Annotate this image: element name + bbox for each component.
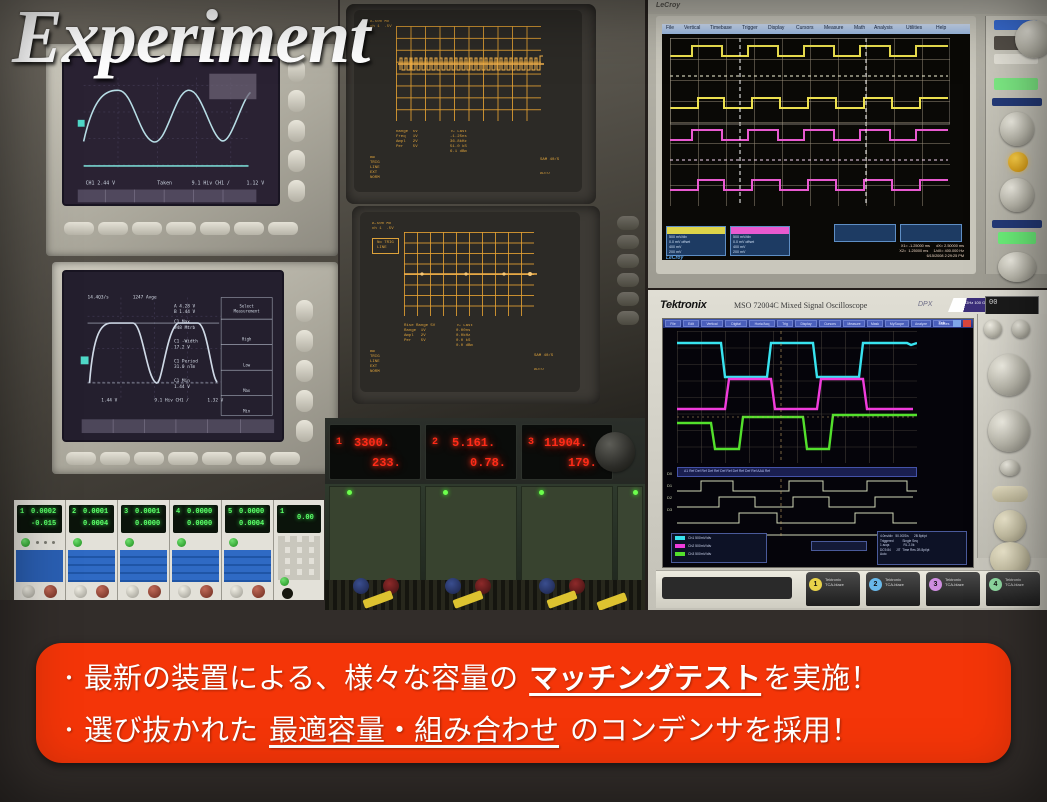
amber-screen-lower: A-500 MO ch 1 .5V No TRIG LINE Rise Rang… [360,212,580,392]
caption-line-2-pre: 選び抜かれた [84,705,258,757]
caption-line-1-post: を実施！ [763,653,879,705]
tek-menu-edit[interactable]: Edit [683,320,699,327]
tek-menu-cursors[interactable]: Cursors [819,320,841,327]
tektronix-status-panel: 4.0ns/div 50.0GS/s 2B 8pt/pt Triggered S… [877,531,967,565]
caption-line-1: ・ 最新の装置による、様々な容量の マッチングテスト を実施！ [54,653,993,705]
lecroy-menu-math[interactable]: Math [854,25,865,31]
lecroy-menu-file[interactable]: File [666,25,674,31]
photo-power-supplies: 1 0.0002 -0.015 2 0.0001 0.0004 [14,500,324,600]
lecroy-menu-help[interactable]: Help [936,25,946,31]
led-1-secondary: 233. [372,456,401,470]
amber-header-upper: A-500 MO ch 1 .5V [370,20,392,30]
svg-text:Min: Min [243,408,250,413]
tek-knob-horizontal-scale[interactable] [988,410,1030,452]
lecroy-amber-lamp[interactable] [1008,152,1028,172]
svg-text:Taken: Taken [157,181,172,187]
tek-menu-vertical[interactable]: Vertical [701,320,723,327]
psu-3-channel: 3 [124,508,128,516]
psu-6-keypad[interactable] [278,536,320,580]
lecroy-waveforms: 1 [670,38,950,206]
led-2-secondary: 0.78. [470,456,506,470]
probe-2-number: 2 [869,578,882,591]
psu-1-output-button[interactable] [21,538,30,547]
photo-amber-monitors: A-500 MO ch 1 .5V Range 5V Freq 1V Ampl … [340,0,645,420]
photo-collage: CH1 2.44 VTaken 9.1 Hiv CH1 /1.12 V [0,0,1047,610]
caption-line-2-emphasis: 最適容量・組み合わせ [267,705,561,757]
led-1-channel: 1 [336,437,342,448]
caption-line-2: ・ 選び抜かれた 最適容量・組み合わせ のコンデンサを採用！ [54,705,993,757]
lecroy-menu-vertical[interactable]: Vertical [684,25,700,31]
photo-lecroy-scope: LeCroy File Vertical Timebase Trigger Di… [648,0,1047,288]
scope-lower-screen: A 4.28 VB 1.44 V C1 Max948 Mtrb C1 -Widt… [62,270,284,442]
amber-corner2-lower: AUTO [534,368,544,373]
front-panel-3 [521,486,613,582]
psu-2-channel: 2 [72,508,76,516]
svg-text:9.1 Hiv CH1 /: 9.1 Hiv CH1 / [154,398,189,404]
svg-text:14.4Q3/s: 14.4Q3/s [88,295,110,301]
led-meter-1: 1 3300. 233. [329,424,421,480]
instrument-front-panels [325,484,645,610]
psu-5-knob-left[interactable] [230,585,243,598]
psu-unit-6: 1 0.00 [274,500,324,600]
front-panel-1 [329,486,421,582]
psu-1-knob-left[interactable] [22,585,35,598]
amber-corner2-upper: AUTO [540,172,550,177]
psu-unit-3: 3 0.0001 0.0000 [118,500,170,600]
amber-corner-upper: SAM 40/S [540,158,559,163]
slide-root: CH1 2.44 VTaken 9.1 Hiv CH1 /1.12 V [0,0,1047,802]
psu-1-display: 1 0.0002 -0.015 [17,505,62,533]
svg-text:High: High [242,337,251,342]
psu-4-output-button[interactable] [177,538,186,547]
svg-text:C1 -Width: C1 -Width [174,339,198,345]
tek-legend-ch3-swatch [675,552,685,556]
psu-unit-4: 4 0.0000 0.0000 [170,500,222,600]
led-2-primary: 5.161. [452,436,495,450]
tektronix-analog-waveforms: 1 2 3 [677,331,917,463]
caption-bullet-1: ・ [54,653,84,705]
psu-1-voltage: 0.0002 [31,508,56,516]
front-panel-4 [617,486,643,582]
tek-legend-ch2-swatch [675,544,685,548]
tektronix-menubar[interactable]: File Edit Vertical Digital Horiz/Acq Tri… [663,319,973,328]
tek-menu-myscope[interactable]: MyScope [885,320,909,327]
lecroy-c1-badge: 500 mV/div0.0 mV offset400 mV200 mV [666,226,726,256]
tektronix-front-slot [662,577,792,599]
amber-corner-lower: SAM 40/S [534,354,553,359]
tek-menu-mask[interactable]: Mask [867,320,883,327]
lecroy-menu-display[interactable]: Display [768,25,784,31]
tek-legend-ch1: Ch1 500mV/div [688,536,711,540]
lecroy-menu-cursors[interactable]: Cursors [796,25,814,31]
probe-1-number: 1 [809,578,822,591]
probe-2-label: Tektronix TCA-blaze [885,577,904,587]
tektronix-timebase-badge [811,541,867,551]
probe-3-label: Tektronix TCA-blaze [945,577,964,587]
banana-jack-neg-3[interactable] [539,578,555,594]
lecroy-knob-upper[interactable] [1000,112,1034,146]
psu-3-voltage: 0.0001 [135,508,160,516]
psu-4-current: 0.0000 [187,520,212,528]
lecroy-knob-lower[interactable] [1000,178,1034,212]
psu-5-knob-right[interactable] [252,585,265,598]
svg-text:1.12 V: 1.12 V [247,181,265,187]
psu-2-panel [68,550,115,582]
psu-5-channel: 5 [228,508,232,516]
led-3-secondary: 179. [568,456,597,470]
tektronix-probe-3[interactable]: 3 Tektronix TCA-blaze [926,572,980,606]
svg-text:1.44 V: 1.44 V [174,384,190,390]
psu-2-display: 2 0.0001 0.0004 [69,505,114,533]
tek-knob-position[interactable] [994,510,1026,542]
photo-tektronix-scope: Tektronix MSO 72004C Mixed Signal Oscill… [648,290,1047,610]
lecroy-timebase-badge [834,224,896,242]
lecroy-section-label-2 [992,220,1042,228]
lecroy-menu-trigger[interactable]: Trigger [742,25,758,31]
svg-text:A 4.28 V: A 4.28 V [174,303,196,309]
page-title: Experiment [12,0,369,81]
caption-bullet-2: ・ [54,705,84,757]
svg-text:C1 Min: C1 Min [174,378,190,384]
amber-header-lower: A-500 MO ch 1 .5V [372,222,394,232]
tek-menu-horizacq[interactable]: Horiz/Acq [749,320,775,327]
tek-button-zoom[interactable] [1000,460,1020,476]
svg-text:CH1 2.44 V: CH1 2.44 V [86,181,115,187]
psu-4-display: 4 0.0000 0.0000 [173,505,218,533]
psu-unit-5: 5 0.0000 0.0004 [222,500,274,600]
probe-1-label: Tektronix TCA-blaze [825,577,844,587]
lecroy-knob-bottom[interactable] [998,252,1036,282]
psu-6-output-button[interactable] [280,577,289,586]
tek-d1-label: D1 [667,483,672,488]
probe-4-label: Tektronix TCA-blaze [1005,577,1024,587]
tek-menu-analyze[interactable]: Analyze [911,320,931,327]
psu-4-voltage: 0.0000 [187,508,212,516]
psu-5-panel [224,550,271,582]
psu-2-output-button[interactable] [73,538,82,547]
tektronix-digital-labels: D0 D1 D2 D3 [667,471,672,512]
lecroy-section-label-1 [992,98,1042,106]
scope-lower-softkeys[interactable] [66,452,300,465]
tek-d3-label: D3 [667,507,672,512]
scope-upper-sidekeys[interactable] [288,60,305,202]
amber-readout-lower: Rise Range 5V Range 1V Ampl 2V Per 5V [404,324,435,344]
amber-readout-upper: Range 5V Freq 1V Ampl 2V Per 5V [396,130,418,150]
tek-legend-ch3: Ch3 500mV/div [688,552,711,556]
tektronix-probe-2[interactable]: 2 Tektronix TCA-blaze [866,572,920,606]
psu-1-knob-right[interactable] [44,585,57,598]
amber-box-lower: No TRIG LINE [372,238,399,254]
amber-trace-lower [404,232,539,316]
psu-5-output-button[interactable] [229,538,238,547]
psu-4-knob-right[interactable] [200,585,213,598]
tek-label: Tek [938,320,945,325]
psu-6-display: 1 0.00 [277,505,321,533]
svg-text:31.0 nTm: 31.0 nTm [174,364,196,370]
psu-3-panel [120,550,167,582]
tektronix-model: MSO 72004C Mixed Signal Oscilloscope [734,301,867,310]
tek-d2-label: D2 [667,495,672,500]
amber-screen-upper: A-500 MO ch 1 .5V Range 5V Freq 1V Ampl … [354,10,582,192]
panel-led-row [325,490,645,500]
banana-jack-neg-1[interactable] [353,578,369,594]
tektronix-channel-legend: Ch1 500mV/div Ch2 500mV/div Ch3 500mV/di… [671,533,767,563]
psu-3-current: 0.0000 [135,520,160,528]
led-3-channel: 3 [528,437,534,448]
psu-1-current: -0.015 [31,520,56,528]
tek-knob-vertical-scale[interactable] [988,354,1030,396]
psu-6-voltage: 0.00 [297,514,314,522]
psu-6-knob[interactable] [282,588,293,599]
psu-1-panel [16,550,63,582]
probe-3-number: 3 [929,578,942,591]
svg-text:Low: Low [243,362,251,367]
lecroy-menubar[interactable]: File Vertical Timebase Trigger Display C… [662,24,970,34]
psu-1-channel: 1 [20,508,24,516]
psu-6-channel: 1 [280,508,284,516]
psu-2-voltage: 0.0001 [83,508,108,516]
tek-legend-ch1-swatch [675,536,685,540]
tek-menu-measure[interactable]: Measure [843,320,865,327]
lecroy-corner-knob[interactable] [1015,20,1047,58]
tek-legend-ch2: Ch2 500mV/div [688,544,711,548]
tek-d0-label: D0 [667,471,672,476]
tektronix-brand: Tektronix [660,299,706,311]
amber-readout2-upper: TC Last -1.25ns 36.8kHz 51.0 kS 6.1 dBm [450,130,467,155]
lecroy-menu-analysis[interactable]: Analysis [874,25,893,31]
scope-lower-sidekeys[interactable] [296,300,313,442]
psu-4-channel: 4 [176,508,180,516]
led-2-channel: 2 [432,437,438,448]
tek-button-measure[interactable] [992,486,1028,502]
psu-unit-2: 2 0.0001 0.0004 [66,500,118,600]
lecroy-run-lamp[interactable] [998,232,1036,244]
tek-close-icon[interactable] [963,320,971,327]
lecroy-menu-utilities[interactable]: Utilities [906,25,922,31]
svg-text:Max: Max [243,388,251,393]
tektronix-probe-4[interactable]: 4 Tektronix TCA-blaze [986,572,1040,606]
caption-line-2-post: のコンデンサを採用！ [570,705,860,757]
scope-upper-softkeys[interactable] [64,222,298,235]
tek-menu-display[interactable]: Display [795,320,817,327]
tektronix-bus-row: A1 Ref Def Ref Def Ref Def Ref Def Ref D… [677,467,917,477]
svg-text:B 1.44 V: B 1.44 V [174,309,196,315]
lecroy-screen: File Vertical Timebase Trigger Display C… [662,24,970,260]
led-meter-knob[interactable] [595,432,635,472]
amber-status-upper: BW TRIG LINE EXT NORM [370,156,380,181]
amber-monitor-sidekeys[interactable] [617,216,639,325]
svg-text:1247 Avge: 1247 Avge [133,295,157,301]
svg-text:C1 Period: C1 Period [174,358,198,364]
scope-lower-waveform: A 4.28 VB 1.44 V C1 Max948 Mtrb C1 -Widt… [64,272,282,441]
led-meter-2: 2 5.161. 0.78. [425,424,517,480]
psu-2-current: 0.0004 [83,520,108,528]
tektronix-probe-bar: 1 Tektronix TCA-blaze 2 Tektronix TCA-bl… [656,570,1039,608]
tektronix-screen: File Edit Vertical Digital Horiz/Acq Tri… [662,318,974,568]
svg-text:1.44 V: 1.44 V [101,398,117,404]
psu-3-output-button[interactable] [125,538,134,547]
psu-5-current: 0.0004 [239,520,264,528]
lecroy-brand-screen: LeCroy [666,255,683,260]
amber-status-lower: BW TRIG LINE EXT NORM [370,350,380,375]
tektronix-control-panel [977,314,1047,558]
lecroy-cursor-readout: X1= -1.25000 ms dX= 2.50000 ms X2= 1.250… [899,244,964,259]
psu-3-display: 3 0.0001 0.0000 [121,505,166,533]
caption-line-1-pre: 最新の装置による、様々な容量の [84,653,518,705]
psu-2-knob-right[interactable] [96,585,109,598]
caption-line-1-emphasis: マッチングテスト [527,653,763,705]
svg-text:17.2 V: 17.2 V [174,345,190,351]
caption-box: ・ 最新の装置による、様々な容量の マッチングテスト を実施！ ・ 選び抜かれた… [36,643,1011,763]
tektronix-dpx-label: DPX [918,301,932,308]
svg-text:C1 Max: C1 Max [174,319,190,325]
svg-text:9.1 Hiv CH1 /: 9.1 Hiv CH1 / [192,181,230,187]
lecroy-brand-top: LeCroy [656,2,680,9]
svg-text:Measurement: Measurement [234,308,260,313]
psu-unit-1: 1 0.0002 -0.015 [14,500,66,600]
tek-minimize-icon[interactable] [953,320,961,327]
photo-led-meters: 1 3300. 233. 2 5.161. 0.78. 3 11904. 179… [325,418,645,610]
front-panel-2 [425,486,517,582]
led-1-primary: 3300. [354,436,390,450]
tektronix-digital-waveforms [677,479,917,539]
tektronix-header: Tektronix MSO 72004C Mixed Signal Oscill… [656,296,1039,314]
psu-4-panel [172,550,219,582]
amber-readout2-lower: TC Last 0.00ns 0.0kHz 0.0 kS 0.0 dBm [456,324,473,349]
probe-4-number: 4 [989,578,1002,591]
psu-2-knob-left[interactable] [74,585,87,598]
lecroy-top-trim: LeCroy [648,0,1047,14]
tek-menu-trig[interactable]: Trig [777,320,793,327]
banana-jack-neg-2[interactable] [445,578,461,594]
tek-menu-digital[interactable]: Digital [725,320,747,327]
lecroy-c2-badge: 500 mV/div0.0 mV offset400 mV200 mV [730,226,790,256]
tek-knob-optical[interactable] [1012,320,1030,338]
tek-menu-file[interactable]: File [665,320,681,327]
lecroy-green-lamp[interactable] [994,78,1038,90]
psu-3-knob-left[interactable] [126,585,139,598]
lecroy-trigger-badge [900,224,962,242]
psu-5-display: 5 0.0000 0.0004 [225,505,270,533]
tek-knob-keyboard[interactable] [984,320,1002,338]
lecroy-menu-measure[interactable]: Measure [824,25,843,31]
amber-trace-upper [396,26,546,121]
lecroy-bezel: File Vertical Timebase Trigger Display C… [656,16,976,274]
psu-5-voltage: 0.0000 [239,508,264,516]
led-3-primary: 11904. [544,436,587,450]
lecroy-menu-timebase[interactable]: Timebase [710,25,732,31]
psu-3-knob-right[interactable] [148,585,161,598]
svg-text:948 Mtrb: 948 Mtrb [174,325,196,331]
psu-4-knob-left[interactable] [178,585,191,598]
tektronix-probe-1[interactable]: 1 Tektronix TCA-blaze [806,572,860,606]
